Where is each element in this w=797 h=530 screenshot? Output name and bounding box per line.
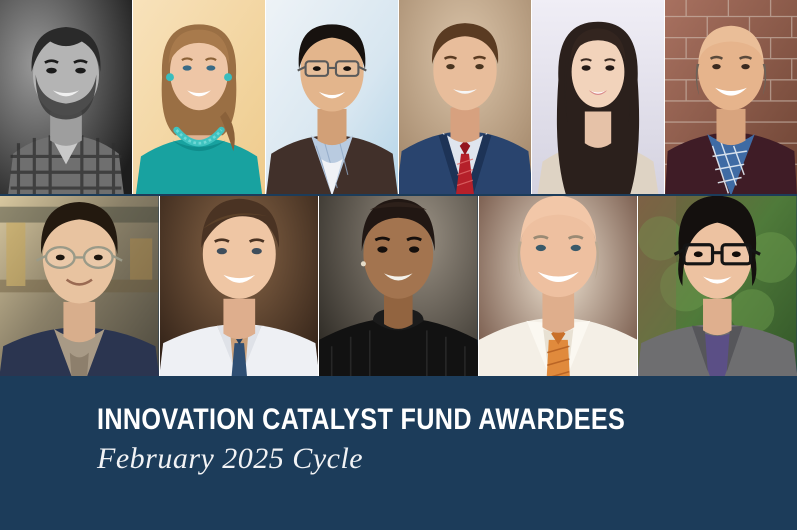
portrait-image-4 bbox=[399, 0, 531, 194]
page-title: Innovation Catalyst Fund Awardees bbox=[97, 404, 625, 436]
portrait-tile-4 bbox=[399, 0, 532, 194]
portrait-tile-1 bbox=[0, 0, 133, 194]
portrait-row-top bbox=[0, 0, 797, 194]
portrait-image-5 bbox=[532, 0, 664, 194]
portrait-tile-11 bbox=[638, 196, 797, 376]
poster-canvas: Innovation Catalyst Fund Awardees Februa… bbox=[0, 0, 797, 530]
banner-text-block: Innovation Catalyst Fund Awardees Februa… bbox=[97, 404, 726, 476]
title-banner: Innovation Catalyst Fund Awardees Februa… bbox=[0, 376, 797, 530]
page-subtitle: February 2025 Cycle bbox=[97, 442, 726, 476]
portrait-row-bottom bbox=[0, 196, 797, 376]
portrait-tile-9 bbox=[319, 196, 479, 376]
portrait-tile-5 bbox=[532, 0, 665, 194]
portrait-image-2 bbox=[133, 0, 265, 194]
portrait-tile-7 bbox=[0, 196, 160, 376]
portrait-tile-8 bbox=[160, 196, 320, 376]
portrait-image-7 bbox=[0, 196, 159, 376]
portrait-tile-6 bbox=[665, 0, 797, 194]
portrait-image-9 bbox=[319, 196, 478, 376]
portrait-mosaic bbox=[0, 0, 797, 376]
portrait-image-3 bbox=[266, 0, 398, 194]
portrait-image-11 bbox=[638, 196, 797, 376]
portrait-tile-2 bbox=[133, 0, 266, 194]
portrait-image-1 bbox=[0, 0, 132, 194]
portrait-tile-10 bbox=[479, 196, 639, 376]
portrait-image-10 bbox=[479, 196, 638, 376]
portrait-image-6 bbox=[665, 0, 797, 194]
portrait-tile-3 bbox=[266, 0, 399, 194]
portrait-image-8 bbox=[160, 196, 319, 376]
